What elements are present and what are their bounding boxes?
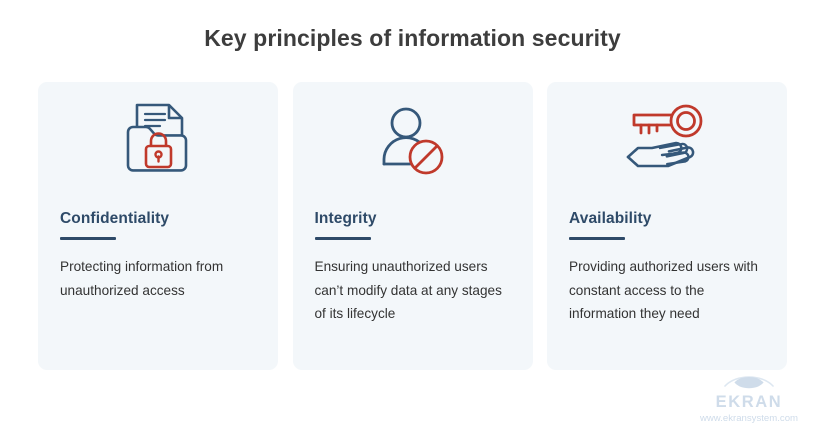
ekran-logo: EKRAN www.ekransystem.com <box>695 373 803 425</box>
heading-rule <box>60 237 116 240</box>
card-heading: Confidentiality <box>60 210 278 228</box>
card-body: Ensuring unauthorized users can’t modify… <box>315 255 511 326</box>
card-heading: Availability <box>569 210 787 228</box>
card-body: Providing authorized users with constant… <box>569 255 765 326</box>
key-in-hand-icon <box>547 82 787 194</box>
heading-rule <box>315 237 371 240</box>
card-body: Protecting information from unauthorized… <box>60 255 256 302</box>
logo-url: www.ekransystem.com <box>695 413 803 425</box>
principle-card-integrity: Integrity Ensuring unauthorized users ca… <box>293 82 533 370</box>
logo-wordmark: EKRAN <box>695 394 803 411</box>
heading-rule <box>569 237 625 240</box>
eye-icon <box>722 373 776 393</box>
user-prohibited-icon <box>293 82 533 194</box>
principle-card-availability: Availability Providing authorized users … <box>547 82 787 370</box>
principle-card-confidentiality: Confidentiality Protecting information f… <box>38 82 278 370</box>
folder-document-lock-icon <box>38 82 278 194</box>
card-heading: Integrity <box>315 210 533 228</box>
page-title: Key principles of information security <box>0 25 825 52</box>
principles-card-list: Confidentiality Protecting information f… <box>38 82 787 370</box>
